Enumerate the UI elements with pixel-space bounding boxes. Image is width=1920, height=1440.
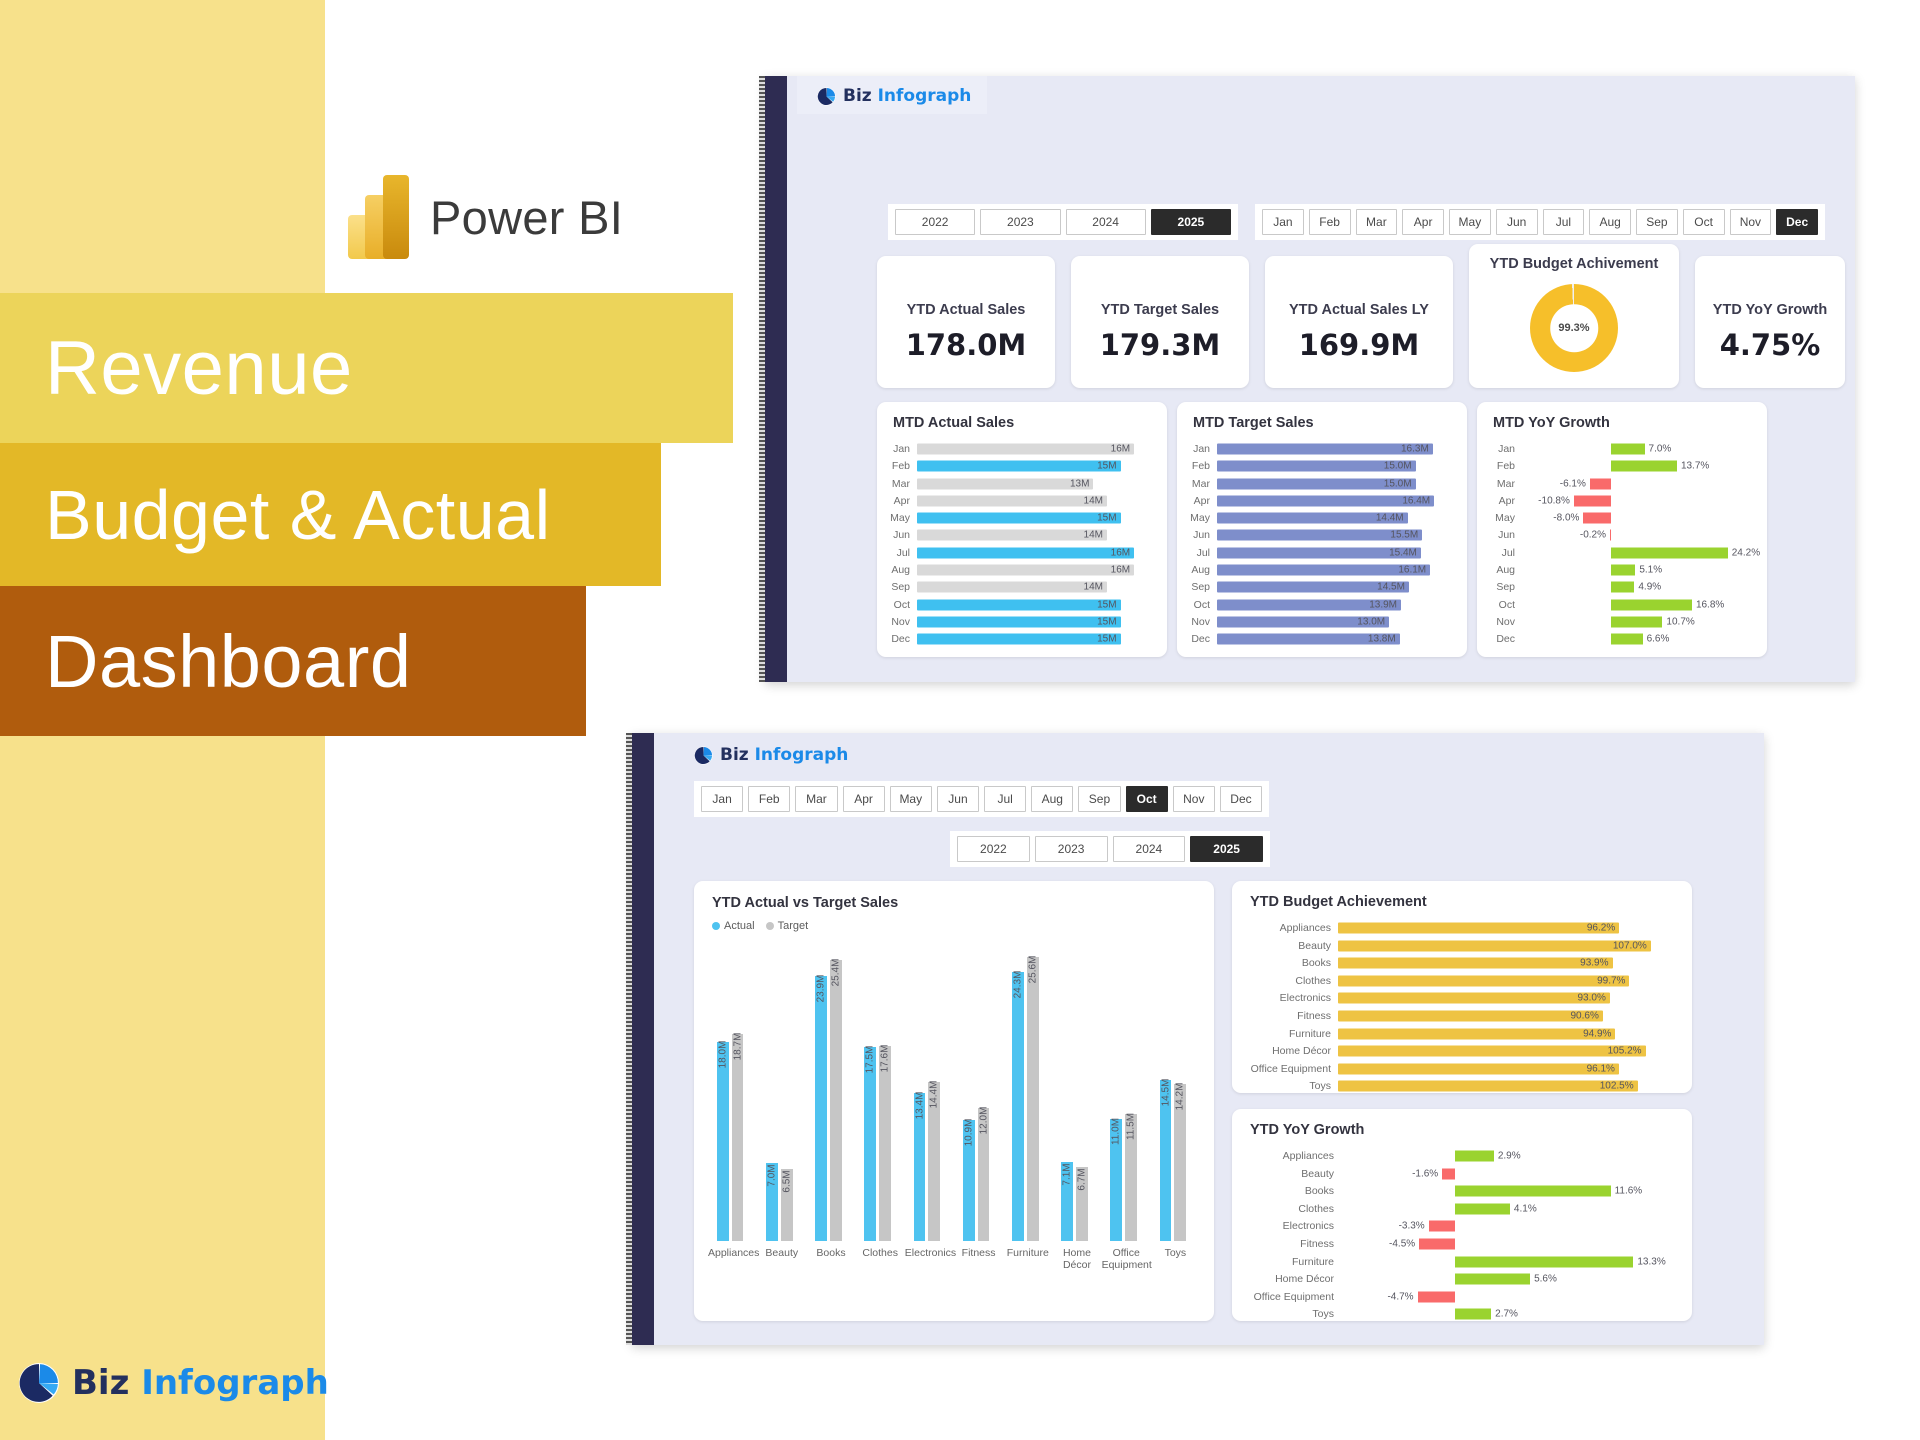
bar[interactable]: [917, 444, 1134, 455]
bar-row: Oct16.8%: [1487, 598, 1757, 612]
bar[interactable]: [1455, 1274, 1530, 1285]
bar-track: 11.6%: [1340, 1184, 1678, 1198]
bar[interactable]: [1338, 975, 1629, 986]
bar-category-label: Clothes: [1242, 975, 1338, 987]
bar-category-label: Mar: [1187, 478, 1217, 490]
month-chip-mar[interactable]: Mar: [795, 786, 837, 812]
column-value-label: 7.0M: [766, 1165, 777, 1187]
column-actual[interactable]: 7.0M: [766, 1163, 778, 1241]
bar-track: 7.0%: [1521, 442, 1757, 456]
bar[interactable]: [1455, 1151, 1494, 1162]
dark-sidebar-rail: [765, 76, 787, 682]
bar-value-label: 16.3M: [1401, 444, 1429, 455]
bar[interactable]: [1611, 444, 1645, 455]
bar-track: 13.7%: [1521, 459, 1757, 473]
bar-category-label: Mar: [1487, 478, 1515, 490]
bar-row: Home Décor105.2%: [1242, 1044, 1678, 1058]
bar-row: Aug16.1M: [1187, 563, 1453, 577]
column-value-label: 7.1M: [1062, 1164, 1073, 1186]
title-line-3: Dashboard: [0, 619, 412, 704]
bar-value-label: 6.6%: [1647, 634, 1670, 645]
kpi-card-ytd-budget-achievement: YTD Budget Achivement 99.3%: [1469, 244, 1679, 388]
column-value-label: 24.3M: [1012, 970, 1023, 998]
bar-category-label: Oct: [1487, 599, 1515, 611]
bar-value-label: 96.1%: [1587, 1063, 1615, 1074]
month-chip-mar[interactable]: Mar: [1356, 209, 1398, 235]
month-chip-apr[interactable]: Apr: [1402, 209, 1444, 235]
month-chip-dec[interactable]: Dec: [1220, 786, 1262, 812]
year-slicer-d2[interactable]: 2022202320242025: [950, 831, 1270, 867]
bar-category-label: Appliances: [1242, 1150, 1334, 1162]
bar[interactable]: [1338, 993, 1610, 1004]
bar-track: 13.3%: [1340, 1255, 1678, 1269]
bar[interactable]: [1590, 478, 1611, 489]
kpi-card-ytd-yoy-growth: YTD YoY Growth 4.75%: [1695, 256, 1845, 388]
bar-row: Mar13M: [887, 477, 1153, 491]
bar-value-label: 13M: [1070, 478, 1089, 489]
bar[interactable]: [1442, 1168, 1455, 1179]
bar[interactable]: [1611, 634, 1643, 645]
bar[interactable]: [1338, 1028, 1615, 1039]
column-value-label: 10.9M: [963, 1119, 974, 1147]
bar[interactable]: [917, 547, 1134, 558]
bar-value-label: 93.0%: [1578, 993, 1606, 1004]
kpi-title: YTD Target Sales: [1071, 302, 1249, 318]
bar-track: -6.1%: [1521, 477, 1757, 491]
bar-category-label: Jun: [887, 529, 917, 541]
bar[interactable]: [917, 495, 1107, 506]
panel-mtd-target-sales: MTD Target Sales Jan16.3MFeb15.0MMar15.0…: [1177, 402, 1467, 657]
year-chip-2024[interactable]: 2024: [1066, 209, 1146, 235]
bar-row: Home Décor5.6%: [1242, 1272, 1678, 1286]
bar[interactable]: [1455, 1309, 1491, 1320]
bar-category-label: Furniture: [1242, 1028, 1338, 1040]
biz-infograph-logo-d2: Biz Infograph: [694, 745, 848, 765]
bar[interactable]: [1611, 461, 1677, 472]
bar-category-label: Nov: [1487, 616, 1515, 628]
bar-row: Jul16M: [887, 546, 1153, 560]
bar-row: Sep4.9%: [1487, 580, 1757, 594]
bar-value-label: 13.9M: [1369, 599, 1397, 610]
bar-track: 10.7%: [1521, 615, 1757, 629]
bar-category-label: Apr: [887, 495, 917, 507]
kpi-title: YTD Budget Achivement: [1469, 256, 1679, 272]
panel-title: MTD YoY Growth: [1493, 415, 1767, 431]
bar-track: 16M: [917, 442, 1153, 456]
bar-category-label: Toys: [1242, 1080, 1338, 1092]
column-group: 14.5M14.2M: [1151, 953, 1200, 1241]
bar[interactable]: [1419, 1238, 1455, 1249]
bar-category-label: Apr: [1487, 495, 1515, 507]
month-chip-jul[interactable]: Jul: [1543, 209, 1585, 235]
month-slicer-d1[interactable]: JanFebMarAprMayJunJulAugSepOctNovDec: [1255, 204, 1825, 240]
month-chip-aug[interactable]: Aug: [1589, 209, 1631, 235]
year-chip-2022[interactable]: 2022: [957, 836, 1030, 862]
kpi-title: YTD Actual Sales: [877, 302, 1055, 318]
month-chip-jan[interactable]: Jan: [1262, 209, 1304, 235]
bar-track: 16M: [917, 563, 1153, 577]
bar-category-label: Sep: [1487, 581, 1515, 593]
column-group: 7.0M6.5M: [757, 953, 806, 1241]
bar-row: Jan16M: [887, 442, 1153, 456]
column-value-label: 18.7M: [732, 1032, 743, 1060]
bar-category-label: Aug: [887, 564, 917, 576]
bar-value-label: 14M: [1084, 530, 1103, 541]
bar-value-label: 16.8%: [1696, 599, 1724, 610]
bar[interactable]: [1338, 958, 1613, 969]
bar-category-label: Clothes: [1242, 1203, 1334, 1215]
column-actual[interactable]: 17.5M: [864, 1047, 876, 1241]
panel-ytd-actual-vs-target: YTD Actual vs Target Sales ActualTarget …: [694, 881, 1214, 1321]
x-axis-category: Books: [806, 1247, 855, 1259]
bar-value-label: 90.6%: [1570, 1010, 1598, 1021]
chart-legend: ActualTarget: [712, 920, 1214, 932]
bar-category-label: Dec: [887, 633, 917, 645]
bar-row: Oct15M: [887, 598, 1153, 612]
column-actual[interactable]: 24.3M: [1012, 972, 1024, 1241]
bar-value-label: 15M: [1097, 461, 1116, 472]
column-value-label: 23.9M: [816, 975, 827, 1003]
legend-item-target[interactable]: Target: [766, 920, 809, 932]
bar[interactable]: [917, 599, 1121, 610]
bar-row: Nov10.7%: [1487, 615, 1757, 629]
bar-category-label: Feb: [1487, 460, 1515, 472]
year-chip-2025[interactable]: 2025: [1151, 209, 1231, 235]
bar[interactable]: [917, 461, 1121, 472]
column-target[interactable]: 12.0M: [978, 1108, 990, 1241]
month-chip-may[interactable]: May: [1449, 209, 1491, 235]
bar-value-label: 14.4M: [1376, 513, 1404, 524]
bar-value-label: 93.9%: [1580, 958, 1608, 969]
bar[interactable]: [917, 478, 1093, 489]
bar[interactable]: [1338, 1081, 1638, 1092]
month-chip-sep[interactable]: Sep: [1636, 209, 1678, 235]
bar-category-label: Feb: [887, 460, 917, 472]
bar-value-label: 11.6%: [1615, 1186, 1643, 1197]
year-chip-2025[interactable]: 2025: [1190, 836, 1263, 862]
month-chip-dec[interactable]: Dec: [1776, 209, 1818, 235]
bar-value-label: 16M: [1111, 547, 1130, 558]
bar-track: 107.0%: [1338, 939, 1678, 953]
bar[interactable]: [1583, 513, 1610, 524]
bar-track: -0.2%: [1521, 528, 1757, 542]
slide-canvas: Power BI Revenue Budget & Actual Dashboa…: [0, 0, 1920, 1440]
x-axis-category: Home Décor: [1052, 1247, 1101, 1271]
column-group: 24.3M25.6M: [1003, 953, 1052, 1241]
bar-category-label: Beauty: [1242, 1168, 1334, 1180]
bar-category-label: Books: [1242, 957, 1338, 969]
bar[interactable]: [1611, 547, 1728, 558]
month-chip-apr[interactable]: Apr: [843, 786, 885, 812]
bar-value-label: -1.6%: [1412, 1168, 1438, 1179]
bar-value-label: -10.8%: [1538, 495, 1570, 506]
bar-row: Apr-10.8%: [1487, 494, 1757, 508]
month-chip-oct[interactable]: Oct: [1683, 209, 1725, 235]
chart-body: Appliances96.2%Beauty107.0%Books93.9%Clo…: [1242, 921, 1678, 1081]
bar-value-label: -4.5%: [1389, 1238, 1415, 1249]
legend-item-actual[interactable]: Actual: [712, 920, 755, 932]
column-target[interactable]: 14.4M: [928, 1082, 940, 1242]
bar-row: Jun15.5M: [1187, 528, 1453, 542]
bar-track: 24.2%: [1521, 546, 1757, 560]
bar[interactable]: [1338, 923, 1619, 934]
bar-row: Mar-6.1%: [1487, 477, 1757, 491]
month-chip-feb[interactable]: Feb: [748, 786, 790, 812]
bar-track: 93.0%: [1338, 991, 1678, 1005]
bar-category-label: Nov: [887, 616, 917, 628]
bar[interactable]: [1429, 1221, 1455, 1232]
bar-row: Books11.6%: [1242, 1184, 1678, 1198]
bar[interactable]: [1611, 565, 1636, 576]
bar-category-label: May: [1187, 512, 1217, 524]
bar-value-label: 13.8M: [1368, 634, 1396, 645]
bar-track: -8.0%: [1521, 511, 1757, 525]
bar-row: Fitness90.6%: [1242, 1009, 1678, 1023]
panel-title: MTD Target Sales: [1193, 415, 1467, 431]
column-value-label: 17.5M: [865, 1046, 876, 1074]
month-chip-nov[interactable]: Nov: [1173, 786, 1215, 812]
bar-track: 96.1%: [1338, 1062, 1678, 1076]
bar[interactable]: [917, 530, 1107, 541]
column-value-label: 6.5M: [781, 1170, 792, 1192]
column-target[interactable]: 18.7M: [732, 1034, 744, 1241]
column-group: 17.5M17.6M: [856, 953, 905, 1241]
biz-infograph-logo-d1: Biz Infograph: [817, 86, 971, 106]
bar[interactable]: [1611, 582, 1635, 593]
bar-row: Jul15.4M: [1187, 546, 1453, 560]
panel-ytd-yoy-growth-category: YTD YoY Growth Appliances2.9%Beauty-1.6%…: [1232, 1109, 1692, 1321]
bar[interactable]: [917, 582, 1107, 593]
bar[interactable]: [1574, 495, 1611, 506]
bar[interactable]: [1455, 1186, 1611, 1197]
bar-category-label: May: [887, 512, 917, 524]
bar-value-label: 14.5M: [1377, 582, 1405, 593]
bar[interactable]: [1338, 1063, 1619, 1074]
bar-track: 15.4M: [1217, 546, 1453, 560]
bar[interactable]: [1338, 1010, 1603, 1021]
year-chip-2023[interactable]: 2023: [1035, 836, 1108, 862]
bar-row: Furniture13.3%: [1242, 1255, 1678, 1269]
bar-value-label: 2.9%: [1498, 1151, 1521, 1162]
column-target[interactable]: 25.6M: [1027, 957, 1039, 1241]
bar-track: 2.9%: [1340, 1149, 1678, 1163]
bar-value-label: 15.0M: [1384, 461, 1412, 472]
bar-value-label: -0.2%: [1580, 530, 1606, 541]
bar[interactable]: [917, 513, 1121, 524]
bar[interactable]: [1338, 940, 1651, 951]
column-value-label: 12.0M: [978, 1107, 989, 1135]
bar-row: May15M: [887, 511, 1153, 525]
column-actual[interactable]: 18.0M: [717, 1042, 729, 1241]
kpi-value: 169.9M: [1265, 328, 1453, 362]
column-value-label: 11.5M: [1126, 1113, 1137, 1140]
bar-value-label: 96.2%: [1587, 923, 1615, 934]
bar-track: 6.6%: [1521, 632, 1757, 646]
column-target[interactable]: 6.7M: [1076, 1167, 1088, 1241]
bar-track: 93.9%: [1338, 956, 1678, 970]
column-value-label: 25.6M: [1027, 956, 1038, 984]
month-chip-aug[interactable]: Aug: [1031, 786, 1073, 812]
bar-value-label: 4.1%: [1514, 1203, 1537, 1214]
panel-mtd-yoy-growth: MTD YoY Growth Jan7.0%Feb13.7%Mar-6.1%Ap…: [1477, 402, 1767, 657]
bar-category-label: Office Equipment: [1242, 1063, 1338, 1075]
month-chip-nov[interactable]: Nov: [1730, 209, 1772, 235]
bar-row: Office Equipment96.1%: [1242, 1062, 1678, 1076]
bar-category-label: Jun: [1187, 529, 1217, 541]
kpi-value: 179.3M: [1071, 328, 1249, 362]
kpi-card-ytd-actual-sales-ly: YTD Actual Sales LY 169.9M: [1265, 256, 1453, 388]
bar[interactable]: [917, 565, 1134, 576]
bar[interactable]: [917, 616, 1121, 627]
month-chip-sep[interactable]: Sep: [1078, 786, 1120, 812]
month-chip-oct[interactable]: Oct: [1126, 786, 1168, 812]
bar-row: Dec15M: [887, 632, 1153, 646]
bar-row: Nov13.0M: [1187, 615, 1453, 629]
column-group: 18.0M18.7M: [708, 953, 757, 1241]
bar-value-label: 7.0%: [1649, 444, 1672, 455]
bar-value-label: 14M: [1084, 582, 1103, 593]
bar-row: Aug5.1%: [1487, 563, 1757, 577]
month-chip-jun[interactable]: Jun: [937, 786, 979, 812]
bar-value-label: 16M: [1111, 444, 1130, 455]
bar-category-label: Home Décor: [1242, 1273, 1334, 1285]
bar-row: Apr14M: [887, 494, 1153, 508]
bar-category-label: Toys: [1242, 1308, 1334, 1320]
bar-row: Aug16M: [887, 563, 1153, 577]
bar-value-label: 16.1M: [1398, 565, 1426, 576]
dashboard-panel-monthly: Biz Infograph ... 2022202320242025 JanFe…: [765, 76, 1855, 682]
bar-row: May-8.0%: [1487, 511, 1757, 525]
bar-track: -4.5%: [1340, 1237, 1678, 1251]
column-actual[interactable]: 23.9M: [815, 976, 827, 1241]
column-actual[interactable]: 7.1M: [1061, 1162, 1073, 1241]
bar[interactable]: [1611, 616, 1663, 627]
bar-category-label: Nov: [1187, 616, 1217, 628]
bar-category-label: Oct: [887, 599, 917, 611]
month-chip-jun[interactable]: Jun: [1496, 209, 1538, 235]
bar-category-label: Feb: [1187, 460, 1217, 472]
column-target[interactable]: 25.4M: [830, 960, 842, 1241]
bar-row: Nov15M: [887, 615, 1153, 629]
bar-value-label: 13.0M: [1357, 616, 1385, 627]
bar-value-label: -8.0%: [1553, 513, 1579, 524]
column-group: 13.4M14.4M: [905, 953, 954, 1241]
month-chip-jan[interactable]: Jan: [701, 786, 743, 812]
year-chip-2023[interactable]: 2023: [980, 209, 1060, 235]
kpi-title: YTD YoY Growth: [1695, 302, 1845, 318]
biz-infograph-footer-logo: Biz Infograph: [18, 1362, 329, 1404]
bar-track: 15M: [917, 598, 1153, 612]
bar-track: 15M: [917, 511, 1153, 525]
column-target[interactable]: 17.6M: [879, 1046, 891, 1241]
bar[interactable]: [1455, 1256, 1633, 1267]
bar[interactable]: [1611, 599, 1692, 610]
bar-row: Toys102.5%: [1242, 1079, 1678, 1093]
column-target[interactable]: 6.5M: [781, 1169, 793, 1241]
bar-track: -1.6%: [1340, 1167, 1678, 1181]
column-actual[interactable]: 11.0M: [1110, 1119, 1122, 1241]
bar-row: Apr16.4M: [1187, 494, 1453, 508]
month-slicer-d2[interactable]: JanFebMarAprMayJunJulAugSepOctNovDec: [694, 781, 1269, 817]
bar-value-label: 94.9%: [1583, 1028, 1611, 1039]
power-bi-label: Power BI: [430, 190, 623, 245]
bar[interactable]: [1338, 1046, 1646, 1057]
bar-category-label: Jul: [1187, 547, 1217, 559]
bar-category-label: Dec: [1187, 633, 1217, 645]
bar[interactable]: [1610, 530, 1611, 541]
column-chart-plot: 18.0M18.7M7.0M6.5M23.9M25.4M17.5M17.6M13…: [708, 953, 1200, 1241]
bar-value-label: 15M: [1097, 599, 1116, 610]
column-value-label: 14.2M: [1175, 1082, 1186, 1110]
bar-category-label: Jan: [887, 443, 917, 455]
column-target[interactable]: 11.5M: [1125, 1114, 1137, 1241]
column-value-label: 11.0M: [1111, 1118, 1122, 1145]
bar-category-label: Books: [1242, 1185, 1334, 1197]
x-axis-category: Furniture: [1003, 1247, 1052, 1259]
biz-infograph-footer-text: Biz Infograph: [72, 1363, 329, 1403]
column-target[interactable]: 14.2M: [1174, 1084, 1186, 1241]
bar-track: 14M: [917, 494, 1153, 508]
x-axis-category: Appliances: [708, 1247, 757, 1259]
column-value-label: 25.4M: [830, 958, 841, 986]
bar-row: Clothes99.7%: [1242, 974, 1678, 988]
power-bi-icon: [348, 175, 412, 259]
bar-row: Feb15.0M: [1187, 459, 1453, 473]
bar-track: 14.5M: [1217, 580, 1453, 594]
chart-body: Jan16.3MFeb15.0MMar15.0MApr16.4MMay14.4M…: [1187, 442, 1453, 645]
bar-row: May14.4M: [1187, 511, 1453, 525]
bar[interactable]: [1418, 1291, 1455, 1302]
bar-track: 15.5M: [1217, 528, 1453, 542]
bar[interactable]: [917, 634, 1121, 645]
bar-track: 90.6%: [1338, 1009, 1678, 1023]
year-chip-2024[interactable]: 2024: [1113, 836, 1186, 862]
bar-value-label: -4.7%: [1387, 1291, 1413, 1302]
bar-track: 15M: [917, 615, 1153, 629]
column-group: 11.0M11.5M: [1102, 953, 1151, 1241]
bar-track: 102.5%: [1338, 1079, 1678, 1093]
column-actual[interactable]: 14.5M: [1160, 1080, 1172, 1241]
column-actual[interactable]: 10.9M: [963, 1120, 975, 1241]
column-value-label: 14.5M: [1160, 1079, 1171, 1107]
bar-row: Feb15M: [887, 459, 1153, 473]
bar-row: Electronics93.0%: [1242, 991, 1678, 1005]
bar-track: 13M: [917, 477, 1153, 491]
bar-row: Dec6.6%: [1487, 632, 1757, 646]
column-group: 23.9M25.4M: [806, 953, 855, 1241]
month-chip-feb[interactable]: Feb: [1309, 209, 1351, 235]
bar-category-label: Electronics: [1242, 1220, 1334, 1232]
donut-center-value: 99.3%: [1530, 322, 1618, 334]
bar-category-label: Dec: [1487, 633, 1515, 645]
bar-track: 13.8M: [1217, 632, 1453, 646]
year-slicer-d1[interactable]: 2022202320242025: [888, 204, 1238, 240]
column-actual[interactable]: 13.4M: [914, 1093, 926, 1241]
bar-row: Jan7.0%: [1487, 442, 1757, 456]
bar-category-label: Jun: [1487, 529, 1515, 541]
month-chip-jul[interactable]: Jul: [984, 786, 1026, 812]
bar[interactable]: [1455, 1203, 1510, 1214]
bar-row: Beauty107.0%: [1242, 939, 1678, 953]
year-chip-2022[interactable]: 2022: [895, 209, 975, 235]
bar-track: 2.7%: [1340, 1307, 1678, 1321]
bar-category-label: Electronics: [1242, 992, 1338, 1004]
bar-track: 15M: [917, 459, 1153, 473]
bar-track: 15.0M: [1217, 459, 1453, 473]
bar-row: Jul24.2%: [1487, 546, 1757, 560]
column-value-label: 13.4M: [914, 1091, 925, 1119]
month-chip-may[interactable]: May: [890, 786, 932, 812]
